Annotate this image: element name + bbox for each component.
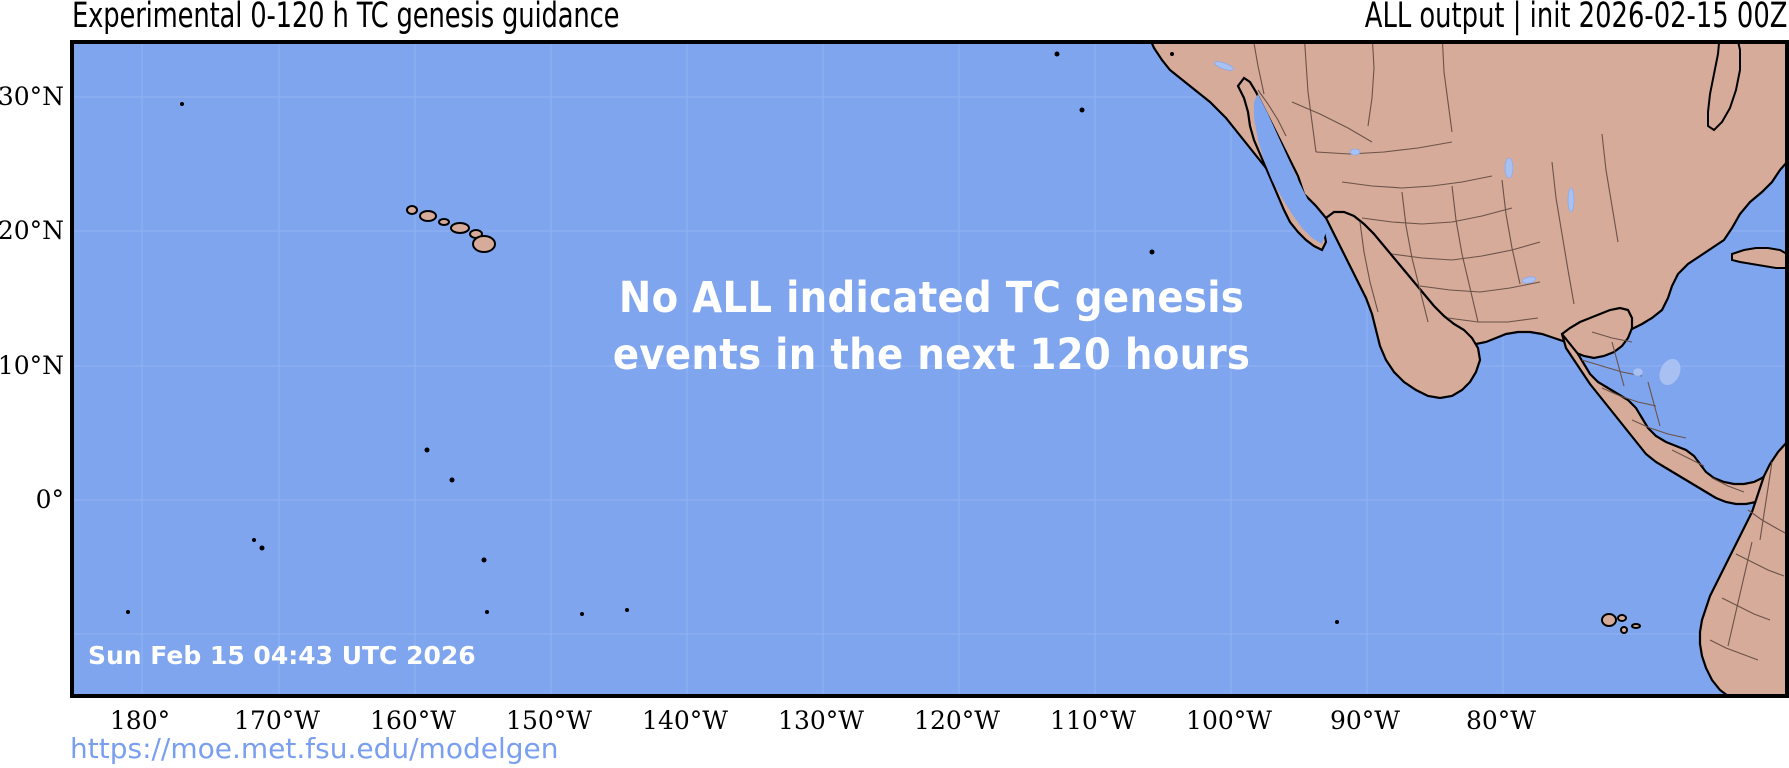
header: Experimental 0-120 h TC genesis guidance…: [0, 0, 1789, 40]
y-axis-tick-30n: 30°N: [0, 82, 64, 111]
x-axis-tick-150w: 150°W: [506, 706, 592, 735]
map-geography-svg: [72, 42, 1787, 696]
x-axis-tick-180: 180°: [110, 706, 170, 735]
x-axis-tick-140w: 140°W: [642, 706, 728, 735]
map-timestamp: Sun Feb 15 04:43 UTC 2026: [88, 641, 476, 670]
y-axis-tick-0: 0°: [36, 485, 64, 514]
x-axis-tick-100w: 100°W: [1186, 706, 1272, 735]
x-axis-tick-110w: 110°W: [1050, 706, 1136, 735]
header-output-init-label: ALL output | init 2026-02-15 00Z: [1364, 0, 1787, 36]
y-axis-tick-10n: 10°N: [0, 351, 64, 380]
x-axis-tick-80w: 80°W: [1466, 706, 1536, 735]
page-title: Experimental 0-120 h TC genesis guidance: [72, 0, 619, 36]
x-axis-tick-170w: 170°W: [234, 706, 320, 735]
x-axis-tick-90w: 90°W: [1330, 706, 1400, 735]
y-axis-tick-20n: 20°N: [0, 216, 64, 245]
map-canvas[interactable]: No ALL indicated TC genesis events in th…: [70, 40, 1789, 698]
x-axis-tick-120w: 120°W: [914, 706, 1000, 735]
x-axis-tick-130w: 130°W: [778, 706, 864, 735]
source-url-link[interactable]: https://moe.met.fsu.edu/modelgen: [70, 732, 558, 765]
x-axis-tick-160w: 160°W: [370, 706, 456, 735]
tc-genesis-guidance-page: Experimental 0-120 h TC genesis guidance…: [0, 0, 1789, 768]
